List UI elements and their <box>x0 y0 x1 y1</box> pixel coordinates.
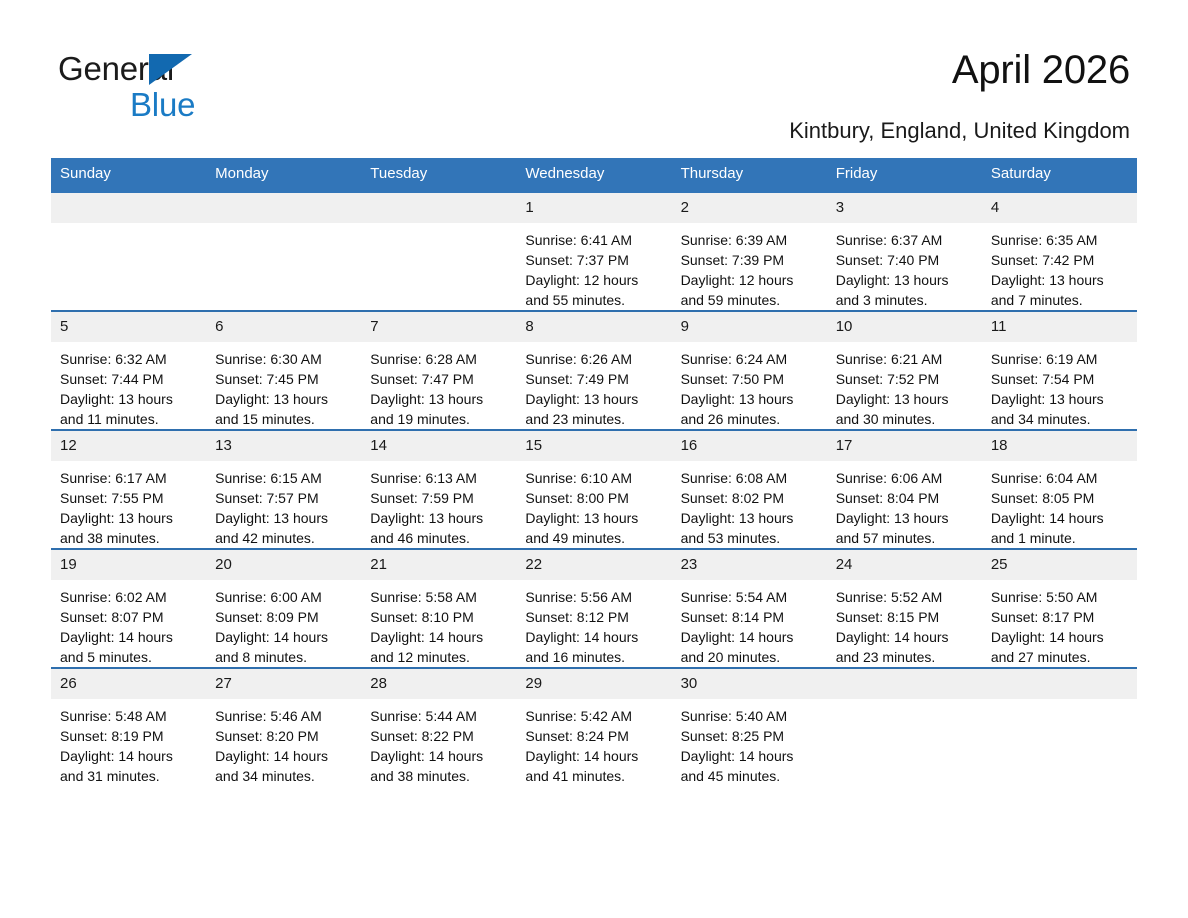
day-daylight2-text: and 30 minutes. <box>836 409 973 429</box>
calendar-day-cell[interactable]: 27Sunrise: 5:46 AMSunset: 8:20 PMDayligh… <box>206 668 361 786</box>
calendar-day-cell[interactable]: 25Sunrise: 5:50 AMSunset: 8:17 PMDayligh… <box>982 549 1137 668</box>
day-details <box>827 699 982 706</box>
day-details: Sunrise: 5:48 AMSunset: 8:19 PMDaylight:… <box>51 699 206 786</box>
day-details: Sunrise: 6:39 AMSunset: 7:39 PMDaylight:… <box>672 223 827 310</box>
day-sunset-text: Sunset: 8:12 PM <box>525 607 662 627</box>
day-sunset-text: Sunset: 8:04 PM <box>836 488 973 508</box>
day-daylight1-text: Daylight: 13 hours <box>60 389 197 409</box>
day-details: Sunrise: 6:32 AMSunset: 7:44 PMDaylight:… <box>51 342 206 429</box>
day-sunset-text: Sunset: 7:52 PM <box>836 369 973 389</box>
calendar-day-cell[interactable]: 10Sunrise: 6:21 AMSunset: 7:52 PMDayligh… <box>827 311 982 430</box>
calendar-day-cell[interactable]: 18Sunrise: 6:04 AMSunset: 8:05 PMDayligh… <box>982 430 1137 549</box>
page-subtitle-location: Kintbury, England, United Kingdom <box>789 118 1130 144</box>
calendar-day-cell[interactable]: 19Sunrise: 6:02 AMSunset: 8:07 PMDayligh… <box>51 549 206 668</box>
day-details <box>982 699 1137 706</box>
day-sunrise-text: Sunrise: 5:44 AM <box>370 706 507 726</box>
calendar-day-cell[interactable]: 24Sunrise: 5:52 AMSunset: 8:15 PMDayligh… <box>827 549 982 668</box>
day-daylight1-text: Daylight: 13 hours <box>215 389 352 409</box>
day-details: Sunrise: 5:58 AMSunset: 8:10 PMDaylight:… <box>361 580 516 667</box>
day-daylight1-text: Daylight: 14 hours <box>681 627 818 647</box>
day-sunrise-text: Sunrise: 5:42 AM <box>525 706 662 726</box>
calendar-day-cell[interactable]: 17Sunrise: 6:06 AMSunset: 8:04 PMDayligh… <box>827 430 982 549</box>
day-daylight2-text: and 23 minutes. <box>836 647 973 667</box>
day-daylight1-text: Daylight: 13 hours <box>836 270 973 290</box>
weekday-header-saturday: Saturday <box>982 158 1137 193</box>
calendar-week-row: 26Sunrise: 5:48 AMSunset: 8:19 PMDayligh… <box>51 668 1137 786</box>
day-daylight2-text: and 34 minutes. <box>991 409 1128 429</box>
calendar-empty-cell <box>827 668 982 786</box>
logo-word-blue: Blue <box>130 88 288 122</box>
day-sunrise-text: Sunrise: 5:52 AM <box>836 587 973 607</box>
day-details: Sunrise: 6:13 AMSunset: 7:59 PMDaylight:… <box>361 461 516 548</box>
day-daylight1-text: Daylight: 13 hours <box>836 508 973 528</box>
day-sunset-text: Sunset: 8:09 PM <box>215 607 352 627</box>
day-daylight1-text: Daylight: 13 hours <box>60 508 197 528</box>
day-details: Sunrise: 6:21 AMSunset: 7:52 PMDaylight:… <box>827 342 982 429</box>
calendar-empty-cell <box>982 668 1137 786</box>
day-details: Sunrise: 5:42 AMSunset: 8:24 PMDaylight:… <box>516 699 671 786</box>
day-daylight1-text: Daylight: 13 hours <box>370 389 507 409</box>
day-sunset-text: Sunset: 8:24 PM <box>525 726 662 746</box>
day-number: 1 <box>516 193 671 223</box>
day-sunrise-text: Sunrise: 6:04 AM <box>991 468 1128 488</box>
day-number: 2 <box>672 193 827 223</box>
day-number: 19 <box>51 550 206 580</box>
day-sunrise-text: Sunrise: 6:02 AM <box>60 587 197 607</box>
day-daylight2-text: and 19 minutes. <box>370 409 507 429</box>
calendar-empty-cell <box>361 193 516 311</box>
calendar-week-row: 12Sunrise: 6:17 AMSunset: 7:55 PMDayligh… <box>51 430 1137 549</box>
day-sunrise-text: Sunrise: 6:06 AM <box>836 468 973 488</box>
day-sunset-text: Sunset: 7:40 PM <box>836 250 973 270</box>
day-sunset-text: Sunset: 7:57 PM <box>215 488 352 508</box>
day-sunset-text: Sunset: 8:17 PM <box>991 607 1128 627</box>
day-sunrise-text: Sunrise: 6:13 AM <box>370 468 507 488</box>
calendar-day-cell[interactable]: 20Sunrise: 6:00 AMSunset: 8:09 PMDayligh… <box>206 549 361 668</box>
day-sunrise-text: Sunrise: 5:40 AM <box>681 706 818 726</box>
day-daylight2-text: and 8 minutes. <box>215 647 352 667</box>
day-details: Sunrise: 6:24 AMSunset: 7:50 PMDaylight:… <box>672 342 827 429</box>
day-daylight2-text: and 16 minutes. <box>525 647 662 667</box>
day-daylight1-text: Daylight: 14 hours <box>525 746 662 766</box>
day-details: Sunrise: 5:52 AMSunset: 8:15 PMDaylight:… <box>827 580 982 667</box>
day-sunrise-text: Sunrise: 5:58 AM <box>370 587 507 607</box>
calendar-day-cell[interactable]: 12Sunrise: 6:17 AMSunset: 7:55 PMDayligh… <box>51 430 206 549</box>
day-daylight1-text: Daylight: 14 hours <box>215 627 352 647</box>
day-daylight2-text: and 55 minutes. <box>525 290 662 310</box>
day-number: 5 <box>51 312 206 342</box>
day-daylight2-text: and 5 minutes. <box>60 647 197 667</box>
day-details: Sunrise: 6:04 AMSunset: 8:05 PMDaylight:… <box>982 461 1137 548</box>
day-details: Sunrise: 5:44 AMSunset: 8:22 PMDaylight:… <box>361 699 516 786</box>
day-sunrise-text: Sunrise: 6:37 AM <box>836 230 973 250</box>
day-details: Sunrise: 6:19 AMSunset: 7:54 PMDaylight:… <box>982 342 1137 429</box>
day-daylight2-text: and 20 minutes. <box>681 647 818 667</box>
day-details: Sunrise: 6:41 AMSunset: 7:37 PMDaylight:… <box>516 223 671 310</box>
day-number: 25 <box>982 550 1137 580</box>
page-title: April 2026 <box>952 48 1130 93</box>
day-daylight1-text: Daylight: 14 hours <box>60 627 197 647</box>
day-sunset-text: Sunset: 7:44 PM <box>60 369 197 389</box>
day-sunset-text: Sunset: 8:22 PM <box>370 726 507 746</box>
day-sunset-text: Sunset: 7:37 PM <box>525 250 662 270</box>
day-sunset-text: Sunset: 8:15 PM <box>836 607 973 627</box>
day-sunrise-text: Sunrise: 6:35 AM <box>991 230 1128 250</box>
day-details: Sunrise: 6:10 AMSunset: 8:00 PMDaylight:… <box>516 461 671 548</box>
day-number <box>206 193 361 223</box>
calendar-day-cell[interactable]: 8Sunrise: 6:26 AMSunset: 7:49 PMDaylight… <box>516 311 671 430</box>
calendar-day-cell[interactable]: 4Sunrise: 6:35 AMSunset: 7:42 PMDaylight… <box>982 193 1137 311</box>
day-daylight1-text: Daylight: 14 hours <box>370 746 507 766</box>
day-number: 20 <box>206 550 361 580</box>
day-daylight1-text: Daylight: 14 hours <box>991 627 1128 647</box>
day-number: 7 <box>361 312 516 342</box>
day-daylight2-text: and 31 minutes. <box>60 766 197 786</box>
day-daylight2-text: and 34 minutes. <box>215 766 352 786</box>
calendar-day-cell[interactable]: 13Sunrise: 6:15 AMSunset: 7:57 PMDayligh… <box>206 430 361 549</box>
day-details: Sunrise: 6:15 AMSunset: 7:57 PMDaylight:… <box>206 461 361 548</box>
day-sunrise-text: Sunrise: 6:26 AM <box>525 349 662 369</box>
day-daylight1-text: Daylight: 13 hours <box>991 270 1128 290</box>
calendar-week-row: 19Sunrise: 6:02 AMSunset: 8:07 PMDayligh… <box>51 549 1137 668</box>
day-number <box>982 669 1137 699</box>
day-sunset-text: Sunset: 7:55 PM <box>60 488 197 508</box>
day-sunset-text: Sunset: 7:47 PM <box>370 369 507 389</box>
day-details: Sunrise: 6:37 AMSunset: 7:40 PMDaylight:… <box>827 223 982 310</box>
day-details: Sunrise: 6:26 AMSunset: 7:49 PMDaylight:… <box>516 342 671 429</box>
day-sunrise-text: Sunrise: 6:28 AM <box>370 349 507 369</box>
day-daylight1-text: Daylight: 14 hours <box>370 627 507 647</box>
day-daylight2-text: and 11 minutes. <box>60 409 197 429</box>
day-number: 30 <box>672 669 827 699</box>
day-number <box>827 669 982 699</box>
day-sunrise-text: Sunrise: 6:21 AM <box>836 349 973 369</box>
day-details <box>206 223 361 230</box>
day-number: 26 <box>51 669 206 699</box>
day-details: Sunrise: 5:54 AMSunset: 8:14 PMDaylight:… <box>672 580 827 667</box>
weekday-header-thursday: Thursday <box>672 158 827 193</box>
day-daylight2-text: and 49 minutes. <box>525 528 662 548</box>
day-sunrise-text: Sunrise: 5:54 AM <box>681 587 818 607</box>
day-daylight2-text: and 27 minutes. <box>991 647 1128 667</box>
day-daylight2-text: and 53 minutes. <box>681 528 818 548</box>
day-number: 14 <box>361 431 516 461</box>
weekday-header-wednesday: Wednesday <box>516 158 671 193</box>
day-sunset-text: Sunset: 8:19 PM <box>60 726 197 746</box>
day-sunrise-text: Sunrise: 5:48 AM <box>60 706 197 726</box>
day-daylight1-text: Daylight: 13 hours <box>681 508 818 528</box>
day-number: 23 <box>672 550 827 580</box>
day-daylight1-text: Daylight: 14 hours <box>681 746 818 766</box>
calendar-day-cell[interactable]: 28Sunrise: 5:44 AMSunset: 8:22 PMDayligh… <box>361 668 516 786</box>
day-number: 15 <box>516 431 671 461</box>
day-number: 18 <box>982 431 1137 461</box>
day-number: 29 <box>516 669 671 699</box>
calendar-day-cell[interactable]: 6Sunrise: 6:30 AMSunset: 7:45 PMDaylight… <box>206 311 361 430</box>
day-daylight1-text: Daylight: 14 hours <box>215 746 352 766</box>
calendar-week-row: 1Sunrise: 6:41 AMSunset: 7:37 PMDaylight… <box>51 193 1137 311</box>
day-details: Sunrise: 6:08 AMSunset: 8:02 PMDaylight:… <box>672 461 827 548</box>
day-sunset-text: Sunset: 7:42 PM <box>991 250 1128 270</box>
calendar-day-cell[interactable]: 3Sunrise: 6:37 AMSunset: 7:40 PMDaylight… <box>827 193 982 311</box>
weekday-header-sunday: Sunday <box>51 158 206 193</box>
day-number: 10 <box>827 312 982 342</box>
calendar-day-cell[interactable]: 7Sunrise: 6:28 AMSunset: 7:47 PMDaylight… <box>361 311 516 430</box>
day-number: 17 <box>827 431 982 461</box>
day-sunset-text: Sunset: 8:05 PM <box>991 488 1128 508</box>
day-sunset-text: Sunset: 7:45 PM <box>215 369 352 389</box>
calendar-day-cell[interactable]: 1Sunrise: 6:41 AMSunset: 7:37 PMDaylight… <box>516 193 671 311</box>
day-details <box>361 223 516 230</box>
day-number: 4 <box>982 193 1137 223</box>
day-sunset-text: Sunset: 7:54 PM <box>991 369 1128 389</box>
calendar-week-row: 5Sunrise: 6:32 AMSunset: 7:44 PMDaylight… <box>51 311 1137 430</box>
calendar-day-cell[interactable]: 26Sunrise: 5:48 AMSunset: 8:19 PMDayligh… <box>51 668 206 786</box>
calendar-day-cell[interactable]: 29Sunrise: 5:42 AMSunset: 8:24 PMDayligh… <box>516 668 671 786</box>
logo-triangle-icon <box>149 54 192 85</box>
day-sunset-text: Sunset: 8:10 PM <box>370 607 507 627</box>
day-number: 24 <box>827 550 982 580</box>
day-sunrise-text: Sunrise: 6:17 AM <box>60 468 197 488</box>
calendar-day-cell[interactable]: 21Sunrise: 5:58 AMSunset: 8:10 PMDayligh… <box>361 549 516 668</box>
day-number: 8 <box>516 312 671 342</box>
day-sunrise-text: Sunrise: 6:08 AM <box>681 468 818 488</box>
day-sunrise-text: Sunrise: 5:56 AM <box>525 587 662 607</box>
day-sunset-text: Sunset: 7:39 PM <box>681 250 818 270</box>
day-daylight1-text: Daylight: 13 hours <box>836 389 973 409</box>
day-daylight2-text: and 59 minutes. <box>681 290 818 310</box>
day-number: 12 <box>51 431 206 461</box>
calendar-day-cell[interactable]: 9Sunrise: 6:24 AMSunset: 7:50 PMDaylight… <box>672 311 827 430</box>
day-daylight2-text: and 3 minutes. <box>836 290 973 310</box>
day-number <box>51 193 206 223</box>
day-details: Sunrise: 5:50 AMSunset: 8:17 PMDaylight:… <box>982 580 1137 667</box>
day-daylight1-text: Daylight: 13 hours <box>991 389 1128 409</box>
day-daylight2-text: and 15 minutes. <box>215 409 352 429</box>
general-blue-logo[interactable]: General Blue <box>58 52 288 118</box>
day-daylight1-text: Daylight: 13 hours <box>525 508 662 528</box>
day-sunrise-text: Sunrise: 6:19 AM <box>991 349 1128 369</box>
day-daylight1-text: Daylight: 13 hours <box>370 508 507 528</box>
day-daylight1-text: Daylight: 12 hours <box>681 270 818 290</box>
calendar-empty-cell <box>206 193 361 311</box>
day-details <box>51 223 206 230</box>
calendar-day-cell[interactable]: 23Sunrise: 5:54 AMSunset: 8:14 PMDayligh… <box>672 549 827 668</box>
day-details: Sunrise: 6:00 AMSunset: 8:09 PMDaylight:… <box>206 580 361 667</box>
day-details: Sunrise: 5:46 AMSunset: 8:20 PMDaylight:… <box>206 699 361 786</box>
day-daylight1-text: Daylight: 14 hours <box>836 627 973 647</box>
calendar-day-cell[interactable]: 30Sunrise: 5:40 AMSunset: 8:25 PMDayligh… <box>672 668 827 786</box>
day-sunset-text: Sunset: 8:02 PM <box>681 488 818 508</box>
day-details: Sunrise: 6:17 AMSunset: 7:55 PMDaylight:… <box>51 461 206 548</box>
calendar-header-row: Sunday Monday Tuesday Wednesday Thursday… <box>51 158 1137 193</box>
day-sunset-text: Sunset: 8:00 PM <box>525 488 662 508</box>
day-daylight2-text: and 26 minutes. <box>681 409 818 429</box>
calendar-page: General Blue April 2026 Kintbury, Englan… <box>0 0 1188 918</box>
day-number: 27 <box>206 669 361 699</box>
calendar-body: 1Sunrise: 6:41 AMSunset: 7:37 PMDaylight… <box>51 193 1137 786</box>
day-sunrise-text: Sunrise: 6:30 AM <box>215 349 352 369</box>
day-daylight2-text: and 23 minutes. <box>525 409 662 429</box>
day-sunset-text: Sunset: 8:25 PM <box>681 726 818 746</box>
day-sunset-text: Sunset: 7:49 PM <box>525 369 662 389</box>
day-details: Sunrise: 6:30 AMSunset: 7:45 PMDaylight:… <box>206 342 361 429</box>
day-daylight1-text: Daylight: 12 hours <box>525 270 662 290</box>
day-details: Sunrise: 5:40 AMSunset: 8:25 PMDaylight:… <box>672 699 827 786</box>
day-number: 21 <box>361 550 516 580</box>
calendar-day-cell[interactable]: 2Sunrise: 6:39 AMSunset: 7:39 PMDaylight… <box>672 193 827 311</box>
day-sunset-text: Sunset: 8:20 PM <box>215 726 352 746</box>
sunrise-sunset-calendar: Sunday Monday Tuesday Wednesday Thursday… <box>51 158 1137 786</box>
day-number: 11 <box>982 312 1137 342</box>
day-sunset-text: Sunset: 8:07 PM <box>60 607 197 627</box>
day-daylight2-text: and 1 minute. <box>991 528 1128 548</box>
day-daylight1-text: Daylight: 14 hours <box>60 746 197 766</box>
page-header: General Blue April 2026 Kintbury, Englan… <box>0 0 1188 110</box>
day-daylight2-text: and 7 minutes. <box>991 290 1128 310</box>
day-sunset-text: Sunset: 7:59 PM <box>370 488 507 508</box>
weekday-header-friday: Friday <box>827 158 982 193</box>
day-daylight2-text: and 12 minutes. <box>370 647 507 667</box>
weekday-header-tuesday: Tuesday <box>361 158 516 193</box>
day-number: 13 <box>206 431 361 461</box>
day-sunrise-text: Sunrise: 6:41 AM <box>525 230 662 250</box>
day-daylight1-text: Daylight: 13 hours <box>525 389 662 409</box>
day-sunrise-text: Sunrise: 6:10 AM <box>525 468 662 488</box>
calendar-day-cell[interactable]: 15Sunrise: 6:10 AMSunset: 8:00 PMDayligh… <box>516 430 671 549</box>
day-daylight1-text: Daylight: 13 hours <box>215 508 352 528</box>
day-details: Sunrise: 6:35 AMSunset: 7:42 PMDaylight:… <box>982 223 1137 310</box>
day-daylight2-text: and 57 minutes. <box>836 528 973 548</box>
day-details: Sunrise: 6:28 AMSunset: 7:47 PMDaylight:… <box>361 342 516 429</box>
day-sunrise-text: Sunrise: 5:46 AM <box>215 706 352 726</box>
day-sunrise-text: Sunrise: 5:50 AM <box>991 587 1128 607</box>
day-details: Sunrise: 6:06 AMSunset: 8:04 PMDaylight:… <box>827 461 982 548</box>
calendar-day-cell[interactable]: 22Sunrise: 5:56 AMSunset: 8:12 PMDayligh… <box>516 549 671 668</box>
day-daylight2-text: and 45 minutes. <box>681 766 818 786</box>
day-number: 22 <box>516 550 671 580</box>
day-details: Sunrise: 5:56 AMSunset: 8:12 PMDaylight:… <box>516 580 671 667</box>
day-sunset-text: Sunset: 7:50 PM <box>681 369 818 389</box>
day-daylight2-text: and 38 minutes. <box>370 766 507 786</box>
day-number <box>361 193 516 223</box>
day-number: 28 <box>361 669 516 699</box>
calendar-day-cell[interactable]: 11Sunrise: 6:19 AMSunset: 7:54 PMDayligh… <box>982 311 1137 430</box>
day-daylight2-text: and 41 minutes. <box>525 766 662 786</box>
day-number: 3 <box>827 193 982 223</box>
day-daylight2-text: and 46 minutes. <box>370 528 507 548</box>
day-sunrise-text: Sunrise: 6:32 AM <box>60 349 197 369</box>
calendar-day-cell[interactable]: 16Sunrise: 6:08 AMSunset: 8:02 PMDayligh… <box>672 430 827 549</box>
day-sunset-text: Sunset: 8:14 PM <box>681 607 818 627</box>
day-daylight2-text: and 38 minutes. <box>60 528 197 548</box>
day-sunrise-text: Sunrise: 6:24 AM <box>681 349 818 369</box>
day-daylight1-text: Daylight: 13 hours <box>681 389 818 409</box>
day-daylight1-text: Daylight: 14 hours <box>525 627 662 647</box>
day-daylight1-text: Daylight: 14 hours <box>991 508 1128 528</box>
day-number: 9 <box>672 312 827 342</box>
day-sunrise-text: Sunrise: 6:00 AM <box>215 587 352 607</box>
calendar-day-cell[interactable]: 5Sunrise: 6:32 AMSunset: 7:44 PMDaylight… <box>51 311 206 430</box>
day-sunrise-text: Sunrise: 6:15 AM <box>215 468 352 488</box>
day-number: 6 <box>206 312 361 342</box>
calendar-empty-cell <box>51 193 206 311</box>
day-details: Sunrise: 6:02 AMSunset: 8:07 PMDaylight:… <box>51 580 206 667</box>
day-daylight2-text: and 42 minutes. <box>215 528 352 548</box>
day-sunrise-text: Sunrise: 6:39 AM <box>681 230 818 250</box>
calendar-day-cell[interactable]: 14Sunrise: 6:13 AMSunset: 7:59 PMDayligh… <box>361 430 516 549</box>
day-number: 16 <box>672 431 827 461</box>
weekday-header-monday: Monday <box>206 158 361 193</box>
